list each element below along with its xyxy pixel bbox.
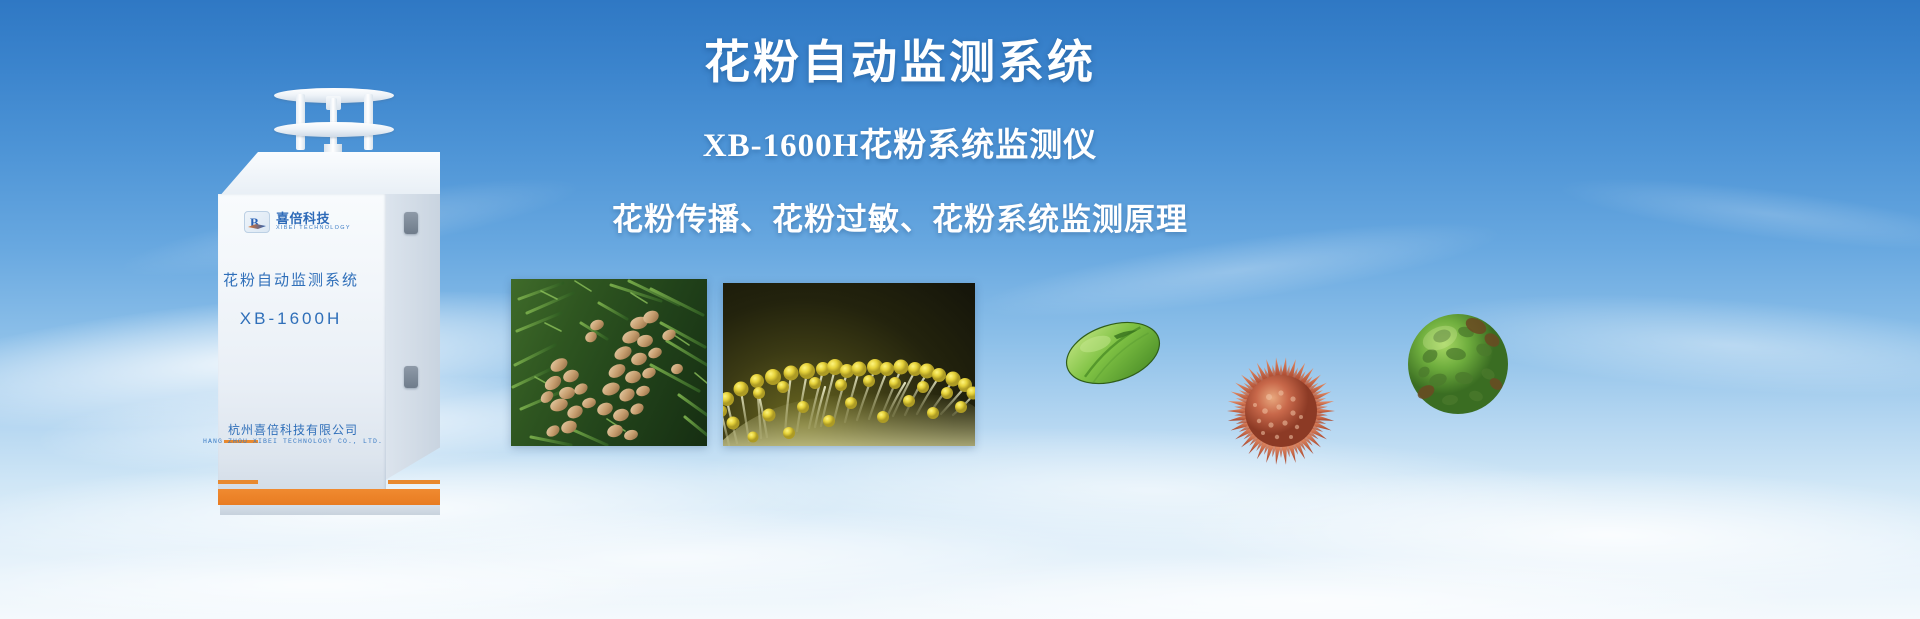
pollen-monitoring-banner: 花粉自动监测系统 XB-1600H花粉系统监测仪 花粉传播、花粉过敏、花粉系统监…	[0, 0, 1920, 619]
device-company-en: HANG ZHOU XIBEI TECHNOLOGY CO., LTD.	[196, 438, 390, 445]
brand-name-cn: 喜倍科技	[276, 212, 351, 226]
brand-name-en: XIBEI TECHNOLOGY	[276, 225, 351, 232]
base-band-right-tip	[388, 480, 440, 484]
pollen-grain-red-spiky: {}	[1225, 355, 1337, 467]
inlet-disc-middle	[274, 122, 394, 137]
pollen-grain-green-oval	[1054, 303, 1171, 402]
cloud-wisp	[0, 545, 660, 619]
catkin-anthers-illustration	[723, 283, 975, 446]
inlet-post-right	[364, 94, 373, 150]
device-brand-logo: B 喜倍科技 XIBEI TECHNOLOGY	[244, 211, 351, 233]
xibei-logo-icon: B	[244, 211, 270, 233]
base-band-left-tip	[218, 480, 258, 484]
photo-catkin-anthers	[723, 283, 975, 446]
page-tagline: 花粉传播、花粉过敏、花粉系统监测原理	[590, 194, 1210, 239]
pollen-grain-green-oval-icon	[1054, 303, 1171, 402]
cabinet-front-face	[218, 194, 386, 494]
cabinet-base-foot	[220, 505, 440, 515]
cabinet-latch-lower[interactable]	[404, 366, 418, 388]
page-title: 花粉自动监测系统	[590, 34, 1210, 92]
pollen-monitor-device: B 喜倍科技 XIBEI TECHNOLOGY 花粉自动监测系统 XB-1600…	[196, 84, 496, 454]
orange-base-band	[218, 489, 440, 505]
pollen-grain-red-spiky-icon: {}	[1225, 355, 1337, 467]
cloud-wisp	[1559, 165, 1920, 264]
pollen-grain-green-sphere	[1404, 310, 1512, 418]
cloud-wisp	[259, 503, 1081, 612]
cabinet-right-face	[382, 194, 440, 482]
cloud-wisp	[820, 556, 1800, 619]
photo-cedar-male-cones	[511, 279, 707, 446]
cabinet-latch-upper[interactable]	[404, 212, 418, 234]
cedar-foliage-illustration	[511, 279, 707, 446]
device-company-cn: 杭州喜倍科技有限公司	[196, 421, 390, 438]
headline-block: 花粉自动监测系统 XB-1600H花粉系统监测仪 花粉传播、花粉过敏、花粉系统监…	[590, 34, 1210, 239]
device-panel-product-name: 花粉自动监测系统	[196, 269, 386, 290]
air-sampling-inlet-icon	[274, 84, 394, 150]
cloud-wisp	[1179, 463, 1920, 608]
cabinet-top-face	[218, 152, 440, 198]
page-subtitle: XB-1600H花粉系统监测仪	[590, 118, 1210, 166]
device-panel-model-number: XB-1600H	[196, 309, 386, 329]
pollen-grain-green-sphere-icon	[1404, 310, 1512, 418]
